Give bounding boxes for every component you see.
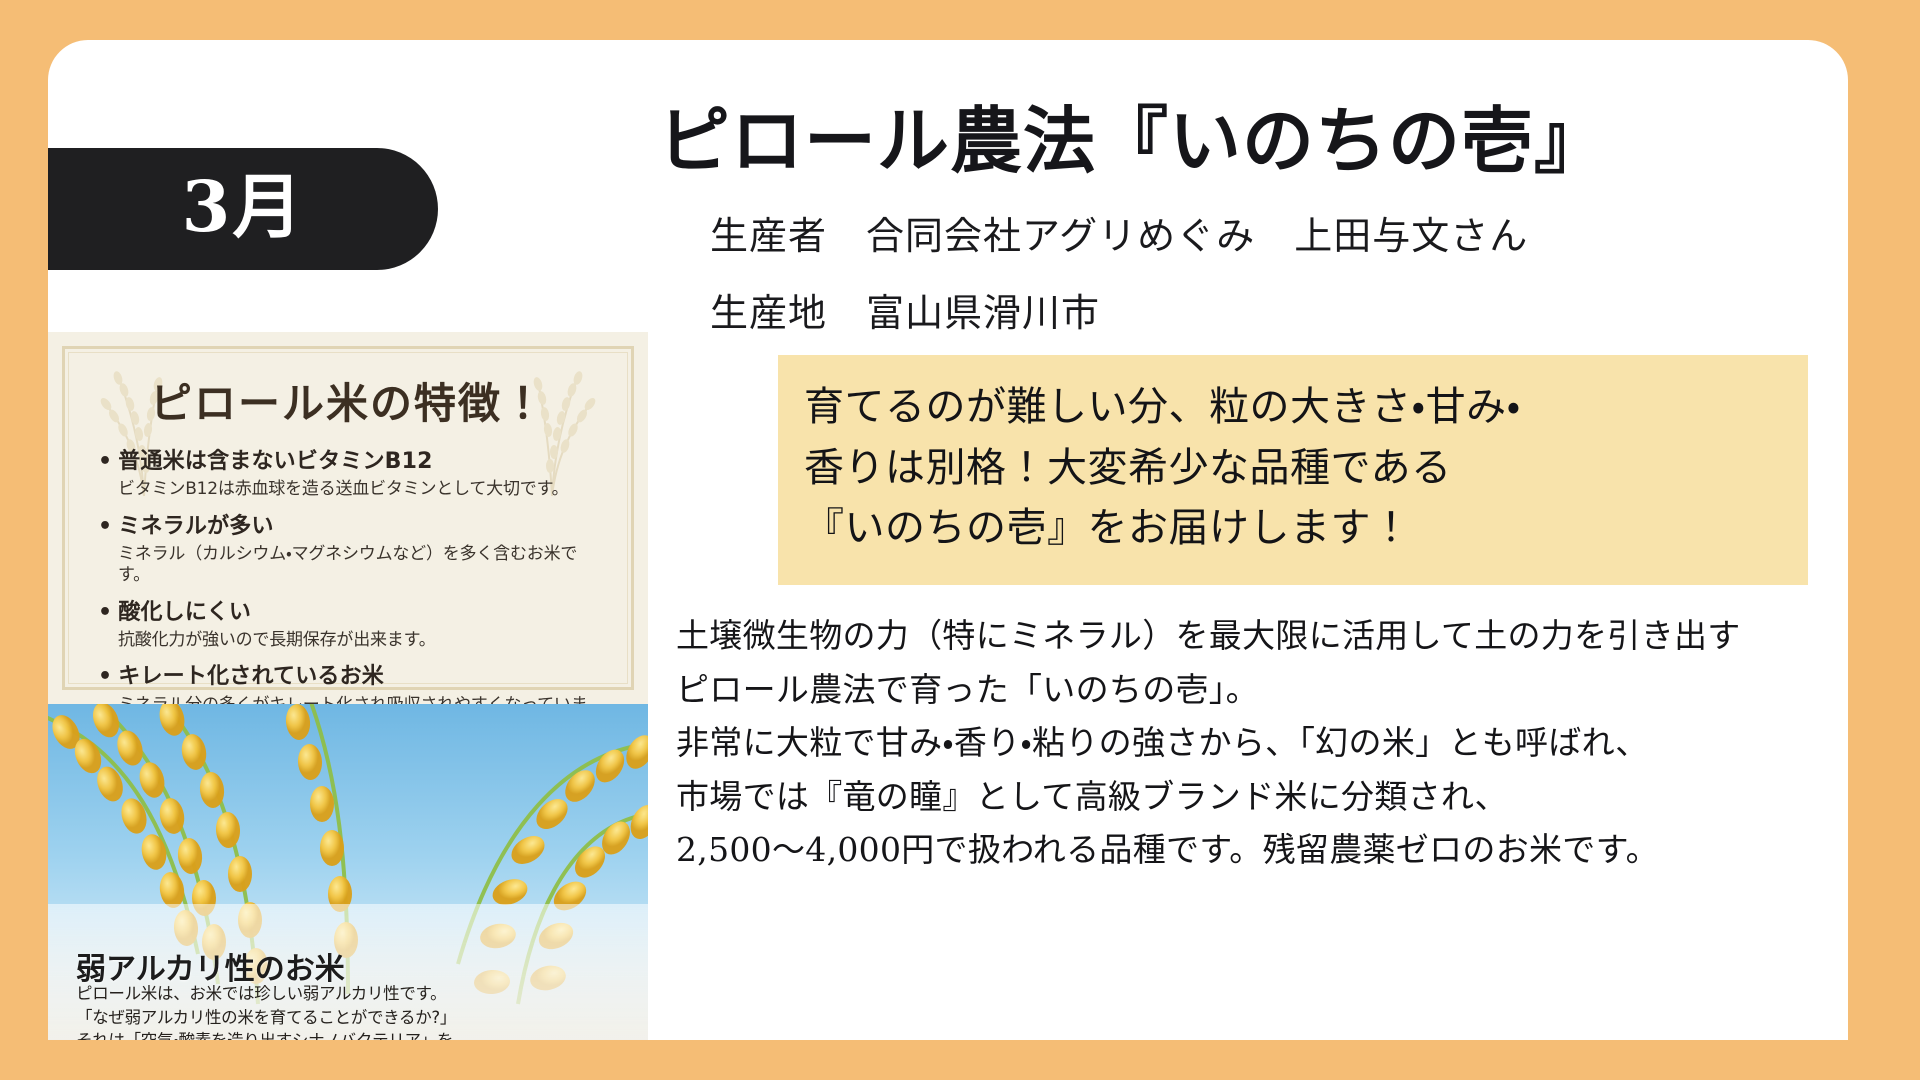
bullet-icon: • <box>98 514 112 539</box>
feature-heading: •キレート化されているお米 <box>98 664 604 690</box>
body-paragraph: ピロール農法で育った「いのちの壱」。 <box>676 663 1836 716</box>
photo-description: ピロール米は、お米では珍しい弱アルカリ性です。 「なぜ弱アルカリ性の米を育てるこ… <box>76 982 632 1040</box>
body-paragraph: 2,500〜4,000円で扱われる品種です。残留農薬ゼロのお米です。 <box>676 823 1836 876</box>
month-badge: 3月 <box>48 148 438 270</box>
feature-item: •酸化しにくい 抗酸化力が強いので長期保存が出来ます。 <box>98 600 604 652</box>
photo-description-line: それは「空気・酸素を造り出すシナノバクテリア」を <box>76 1029 632 1040</box>
month-badge-label: 3月 <box>182 172 305 246</box>
producer-row: 生産者 合同会社アグリめぐみ 上田与文さん <box>710 205 1828 260</box>
body-copy: 土壌微生物の力（特にミネラル）を最大限に活用して土の力を引き出す ピロール農法で… <box>676 609 1836 876</box>
highlight-line: 『いのちの壱』をお届けします！ <box>804 498 1782 559</box>
content-card: 3月 <box>48 40 1848 1040</box>
feature-detail: 抗酸化力が強いので長期保存が出来ます。 <box>118 630 604 651</box>
photo-description-line: 「なぜ弱アルカリ性の米を育てることができるか?」 <box>76 1006 632 1029</box>
features-list: •普通米は含まないビタミンB12 ビタミンB12は赤血球を造る送血ビタミンとして… <box>98 449 604 704</box>
feature-item: •ミネラルが多い ミネラル（カルシウム・マグネシウムなど）を多く含むお米です。 <box>98 514 604 587</box>
feature-detail: ミネラル分の多くがキレート化され吸収されやすくなっています。 <box>118 695 604 704</box>
feature-heading: •普通米は含まないビタミンB12 <box>98 449 604 475</box>
photo-description-line: ピロール米は、お米では珍しい弱アルカリ性です。 <box>76 982 632 1005</box>
bullet-icon: • <box>98 664 112 689</box>
features-title: ピロール米の特徴！ <box>62 370 634 431</box>
page-title: ピロール農法『いのちの壱』 <box>658 100 1828 183</box>
location-row: 生産地 富山県滑川市 <box>710 282 1828 337</box>
body-paragraph: 市場では『竜の瞳』として高級ブランド米に分類され、 <box>676 770 1836 823</box>
feature-item: •普通米は含まないビタミンB12 ビタミンB12は赤血球を造る送血ビタミンとして… <box>98 449 604 501</box>
body-paragraph: 非常に大粒で甘み・香り・粘りの強さから、「幻の米」とも呼ばれ、 <box>676 716 1836 769</box>
highlight-line: 育てるのが難しい分、粒の大きさ・甘み・ <box>804 377 1782 438</box>
highlight-box: 育てるのが難しい分、粒の大きさ・甘み・ 香りは別格！大変希少な品種である 『いの… <box>778 355 1808 585</box>
rice-photo: 弱アルカリ性のお米 ピロール米は、お米では珍しい弱アルカリ性です。 「なぜ弱アル… <box>48 704 648 1040</box>
feature-heading: •酸化しにくい <box>98 600 604 626</box>
highlight-line: 香りは別格！大変希少な品種である <box>804 438 1782 499</box>
bullet-icon: • <box>98 600 112 625</box>
body-paragraph: 土壌微生物の力（特にミネラル）を最大限に活用して土の力を引き出す <box>676 609 1836 662</box>
right-column: ピロール農法『いのちの壱』 生産者 合同会社アグリめぐみ 上田与文さん 生産地 … <box>648 100 1848 876</box>
feature-heading: •ミネラルが多い <box>98 514 604 540</box>
bullet-icon: • <box>98 449 112 474</box>
left-column: ピロール米の特徴！ •普通米は含まないビタミンB12 ビタミンB12は赤血球を造… <box>48 332 648 1040</box>
page-background: 3月 <box>0 0 1920 1080</box>
features-card: ピロール米の特徴！ •普通米は含まないビタミンB12 ビタミンB12は赤血球を造… <box>48 332 648 704</box>
feature-item: •キレート化されているお米 ミネラル分の多くがキレート化され吸収されやすくなって… <box>98 664 604 704</box>
feature-detail: ビタミンB12は赤血球を造る送血ビタミンとして大切です。 <box>118 479 604 500</box>
feature-detail: ミネラル（カルシウム・マグネシウムなど）を多く含むお米です。 <box>118 544 604 587</box>
